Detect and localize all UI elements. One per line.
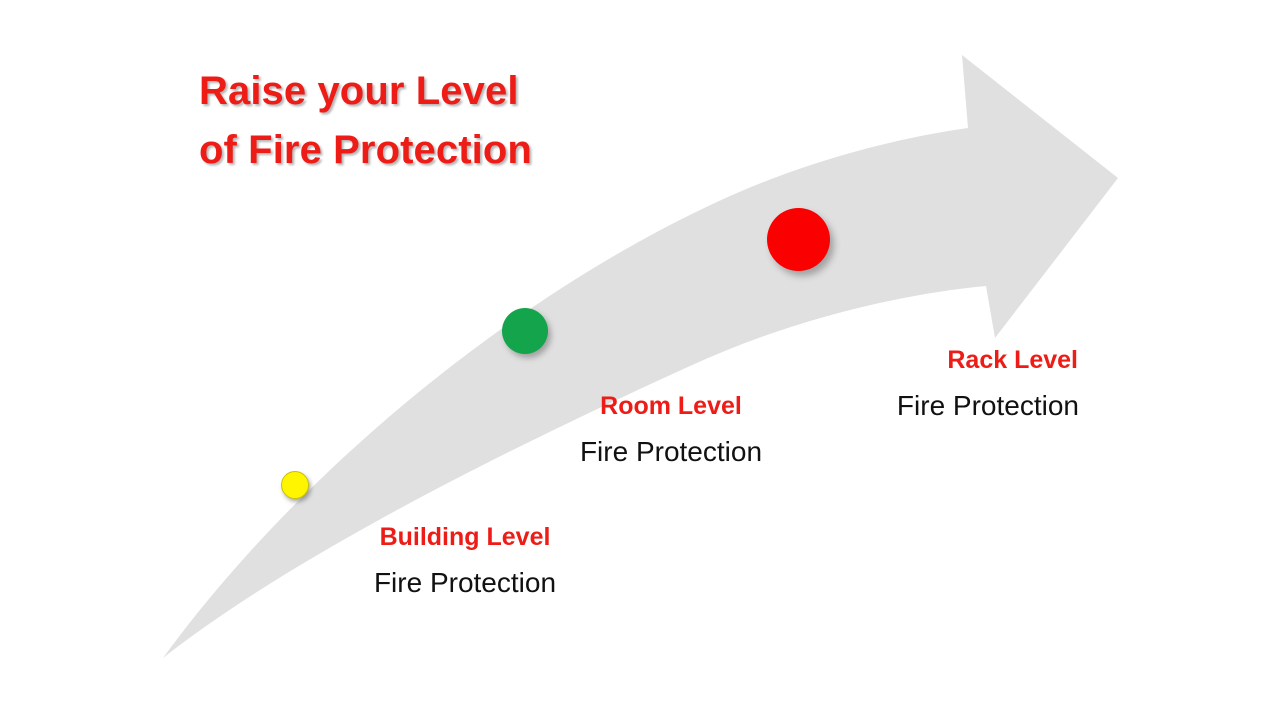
stage-room-subtitle: Fire Protection <box>572 435 770 469</box>
stage-label-rack: Rack Level Fire Protection <box>880 345 1079 423</box>
stage-rack-level: Rack Level <box>880 345 1079 375</box>
stage-building-level: Building Level <box>365 522 565 552</box>
yellow-dot <box>281 471 309 499</box>
stage-rack-subtitle: Fire Protection <box>880 389 1079 423</box>
slide-canvas: Raise your Level of Fire Protection Buil… <box>0 0 1280 720</box>
red-dot <box>767 208 830 271</box>
page-title-line2: of Fire Protection <box>199 121 532 180</box>
green-dot <box>502 308 548 354</box>
stage-building-subtitle: Fire Protection <box>365 566 565 600</box>
page-title: Raise your Level of Fire Protection <box>199 62 532 180</box>
arrow-graphic <box>0 0 1280 720</box>
page-title-line1: Raise your Level <box>199 62 532 121</box>
stage-room-level: Room Level <box>572 391 770 421</box>
stage-label-building: Building Level Fire Protection <box>365 522 565 600</box>
stage-label-room: Room Level Fire Protection <box>572 391 770 469</box>
